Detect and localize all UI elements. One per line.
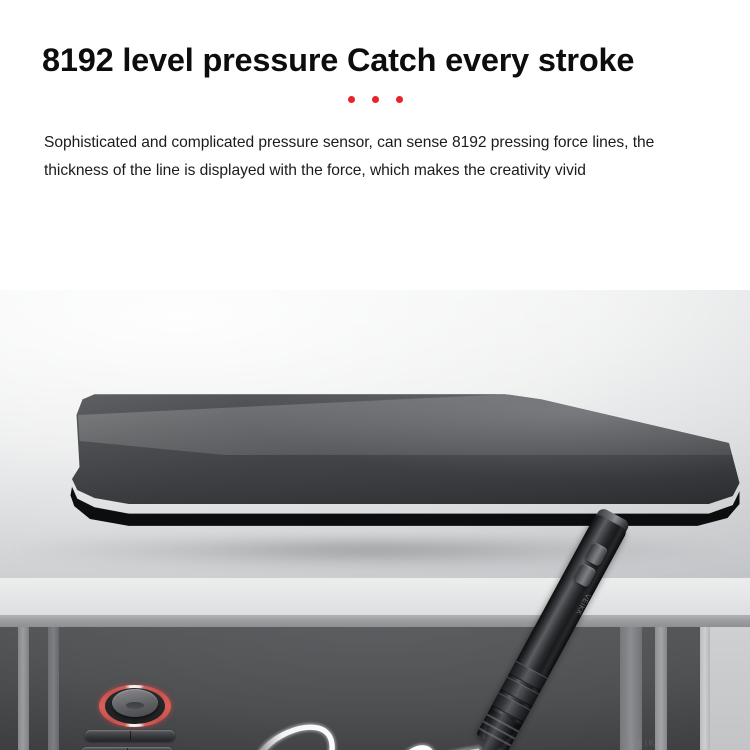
tablet-dial[interactable] xyxy=(99,685,171,727)
desk-leg xyxy=(48,627,59,750)
product-photo: VEIKK xyxy=(0,290,750,750)
product-feature-page: 8192 level pressure Catch every stroke S… xyxy=(0,0,750,750)
key-divider xyxy=(130,731,131,740)
express-key[interactable] xyxy=(85,730,175,741)
desk-leg xyxy=(18,627,29,750)
divider-dot xyxy=(348,96,355,103)
description-paragraph: Sophisticated and complicated pressure s… xyxy=(44,129,692,185)
divider-dots xyxy=(0,93,750,105)
dial-button-notch xyxy=(126,702,144,709)
header-section: 8192 level pressure Catch every stroke S… xyxy=(0,0,750,290)
divider-dot xyxy=(396,96,403,103)
stylus-pen[interactable]: VEIKK xyxy=(449,490,664,750)
page-title: 8192 level pressure Catch every stroke xyxy=(42,40,708,81)
divider-dot xyxy=(372,96,379,103)
